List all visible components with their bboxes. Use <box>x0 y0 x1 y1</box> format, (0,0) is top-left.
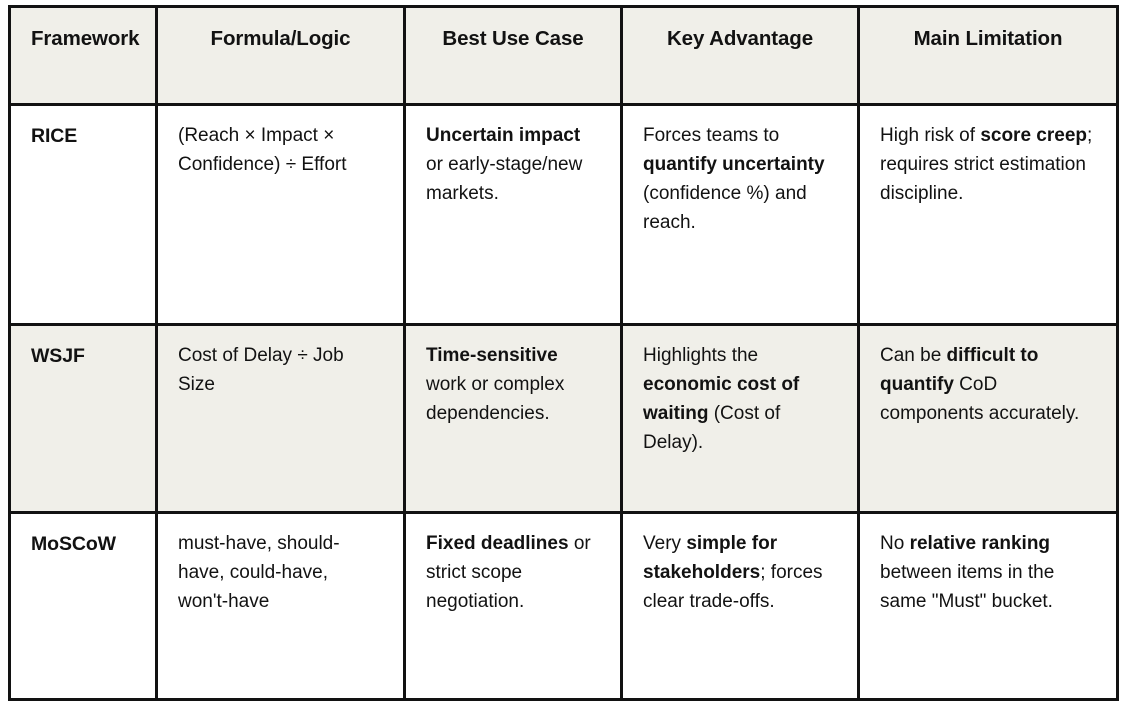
cell-formula-logic: (Reach × Impact × Confidence) ÷ Effort <box>157 105 405 325</box>
cell-framework: RICE <box>10 105 157 325</box>
cell-main-limitation: No relative ranking between items in the… <box>859 513 1118 700</box>
table-body: RICE (Reach × Impact × Confidence) ÷ Eff… <box>10 105 1118 700</box>
cell-key-advantage: Highlights the economic cost of waiting … <box>622 325 859 513</box>
column-header-best-use-case: Best Use Case <box>405 7 622 105</box>
cell-formula-logic: must-have, should-have, could-have, won'… <box>157 513 405 700</box>
table-header: Framework Formula/Logic Best Use Case Ke… <box>10 7 1118 105</box>
column-header-framework: Framework <box>10 7 157 105</box>
prioritization-framework-comparison-table: Framework Formula/Logic Best Use Case Ke… <box>8 5 1119 701</box>
cell-formula-logic: Cost of Delay ÷ Job Size <box>157 325 405 513</box>
cell-best-use-case: Uncertain impact or early-stage/new mark… <box>405 105 622 325</box>
cell-best-use-case: Time-sensitive work or complex dependenc… <box>405 325 622 513</box>
cell-main-limitation: Can be difficult to quantify CoD compone… <box>859 325 1118 513</box>
header-row: Framework Formula/Logic Best Use Case Ke… <box>10 7 1118 105</box>
table-row: WSJF Cost of Delay ÷ Job Size Time-sensi… <box>10 325 1118 513</box>
table-row: RICE (Reach × Impact × Confidence) ÷ Eff… <box>10 105 1118 325</box>
cell-best-use-case: Fixed deadlines or strict scope negotiat… <box>405 513 622 700</box>
column-header-main-limitation: Main Limitation <box>859 7 1118 105</box>
column-header-key-advantage: Key Advantage <box>622 7 859 105</box>
cell-framework: WSJF <box>10 325 157 513</box>
page-root: Framework Formula/Logic Best Use Case Ke… <box>0 0 1124 708</box>
table-row: MoSCoW must-have, should-have, could-hav… <box>10 513 1118 700</box>
column-header-formula-logic: Formula/Logic <box>157 7 405 105</box>
cell-framework: MoSCoW <box>10 513 157 700</box>
cell-key-advantage: Very simple for stakeholders; forces cle… <box>622 513 859 700</box>
cell-key-advantage: Forces teams to quantify uncertainty (co… <box>622 105 859 325</box>
cell-main-limitation: High risk of score creep; requires stric… <box>859 105 1118 325</box>
